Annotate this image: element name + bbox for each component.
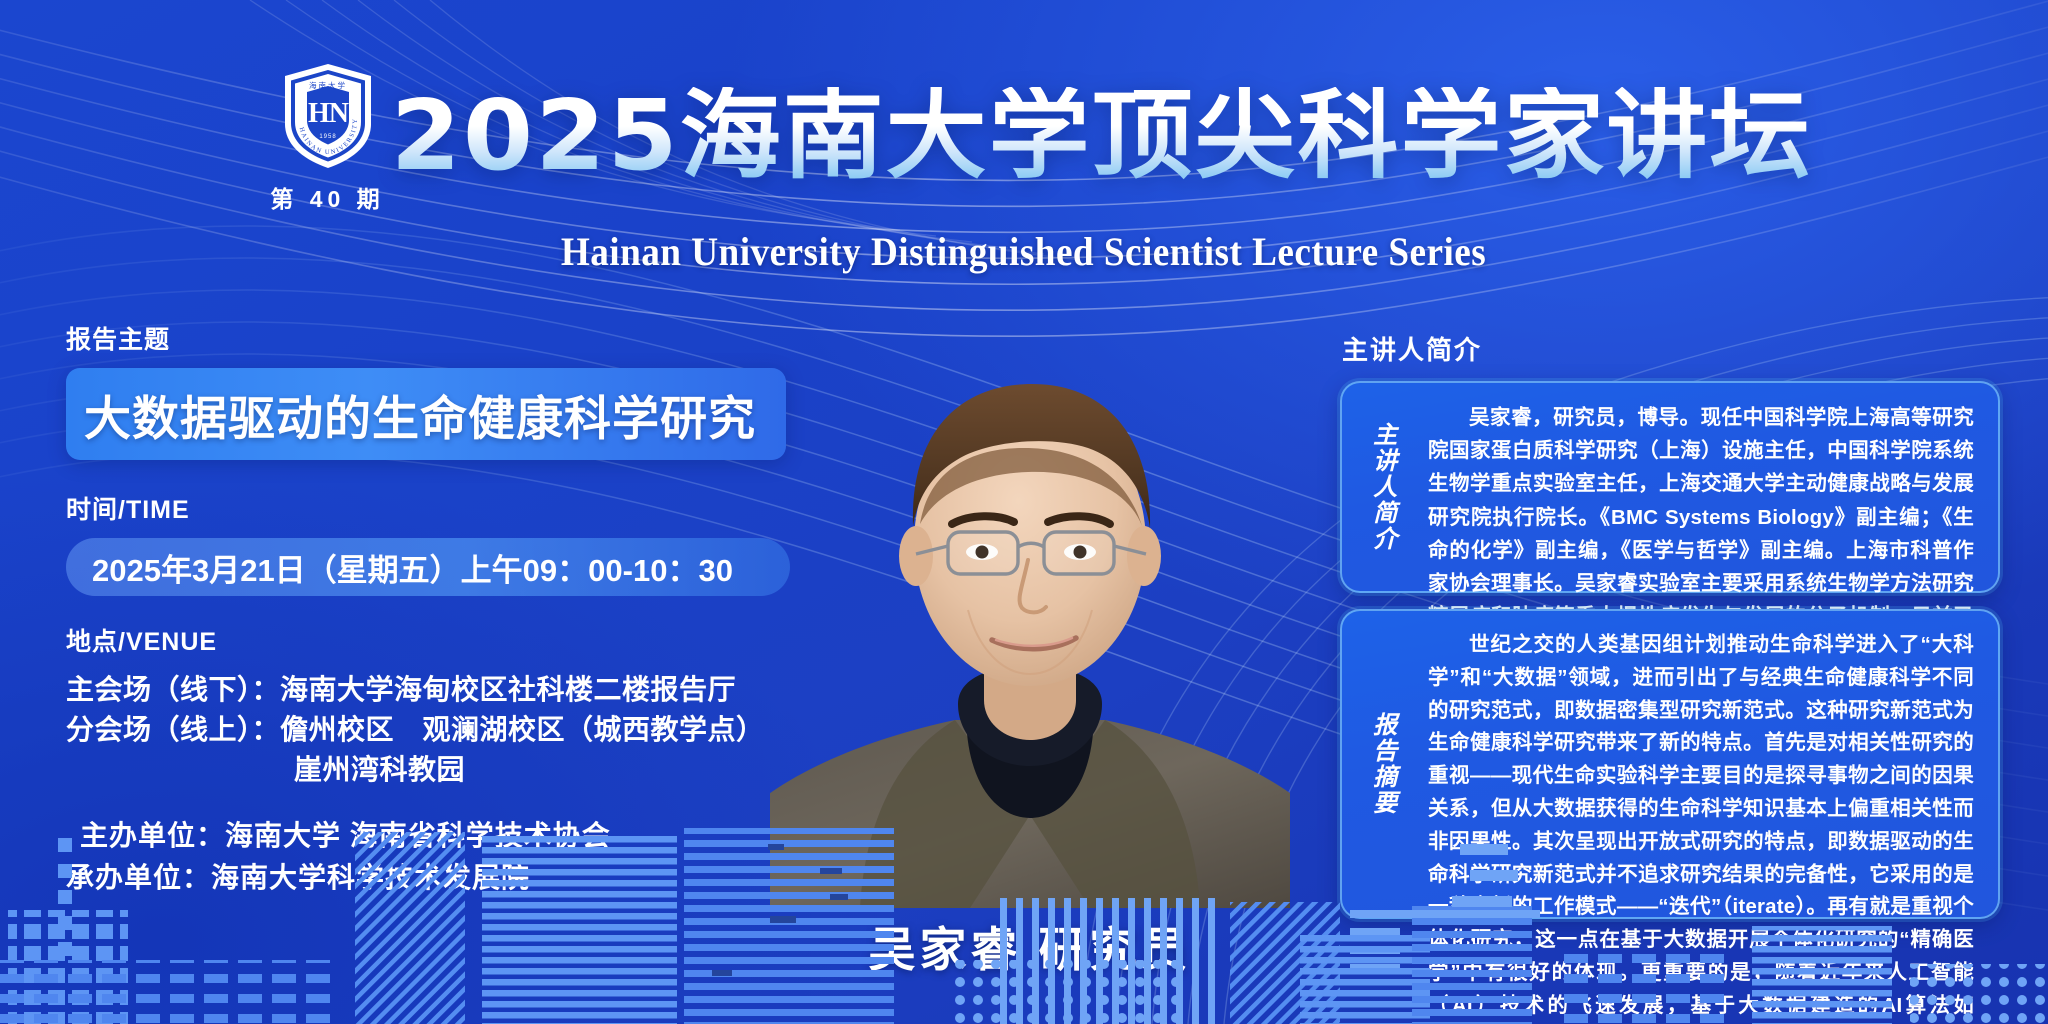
left-info-column: 报告主题 大数据驱动的生命健康科学研究 时间/TIME 2025年3月21日（星… [66,320,886,899]
talk-abstract-card: 报告摘要 世纪之交的人类基因组计划推动生命科学进入了“大科学”和“大数据”领域，… [1340,609,2000,919]
venue-line-main: 主会场（线下）：海南大学海甸校区社科楼二楼报告厅 [66,670,886,710]
abstract-vertical-label: 报告摘要 [1364,712,1399,816]
host-organization: 主办单位：海南大学 海南省科学技术协会 [66,815,886,857]
title-row: HN 1958 海南大学 HAINAN UNIVERSITY 第 40 期 20… [264,58,1785,214]
time-label: 时间/TIME [66,490,886,526]
issue-number: 第 40 期 [270,180,384,214]
right-info-column: 主讲人简介 主讲人简介 吴家睿，研究员，博导。现任中国科学院上海高等研究院国家蛋… [1340,330,2000,935]
university-logo-block: HN 1958 海南大学 HAINAN UNIVERSITY 第 40 期 [264,62,392,214]
poster-subtitle-english: Hainan University Distinguished Scientis… [561,228,1486,275]
svg-text:HN: HN [308,98,349,129]
topic-pill: 大数据驱动的生命健康科学研究 [66,368,786,460]
topic-label: 报告主题 [66,320,886,356]
hainan-university-shield-icon: HN 1958 海南大学 HAINAN UNIVERSITY [281,62,375,170]
venue-line-branch: 分会场（线上）：儋州校区 观澜湖校区（城西教学点） [66,710,886,750]
bio-vertical-label: 主讲人简介 [1364,422,1399,552]
svg-text:海南大学: 海南大学 [309,80,347,90]
poster-main-title: 2025海南大学顶尖科学家讲坛 [390,87,1812,186]
poster-header: HN 1958 海南大学 HAINAN UNIVERSITY 第 40 期 20… [0,58,2048,275]
talk-abstract-text: 世纪之交的人类基因组计划推动生命科学进入了“大科学”和“大数据”领域，进而引出了… [1428,629,1974,1024]
speaker-portrait-illustration [770,348,1290,908]
speaker-intro-section-label: 主讲人简介 [1340,330,2000,367]
speaker-portrait [770,348,1290,908]
svg-text:1958: 1958 [319,134,336,140]
co-organizer: 承办单位：海南大学科学技术发展院 [66,857,886,899]
time-pill: 2025年3月21日（星期五）上午09：00-10：30 [66,538,790,596]
time-value: 2025年3月21日（星期五）上午09：00-10：30 [92,545,733,590]
speaker-bio-card: 主讲人简介 吴家睿，研究员，博导。现任中国科学院上海高等研究院国家蛋白质科学研究… [1340,381,2000,593]
venue-line-branch-2: 崖州湾科教园 [66,750,886,790]
speaker-name-title: 吴家睿 研究员 [770,911,1290,980]
venue-label: 地点/VENUE [66,622,886,658]
poster-canvas: HN 1958 海南大学 HAINAN UNIVERSITY 第 40 期 20… [0,0,2048,1024]
topic-title: 大数据驱动的生命健康科学研究 [84,380,756,449]
organizer-block: 主办单位：海南大学 海南省科学技术协会 承办单位：海南大学科学技术发展院 [66,815,886,899]
